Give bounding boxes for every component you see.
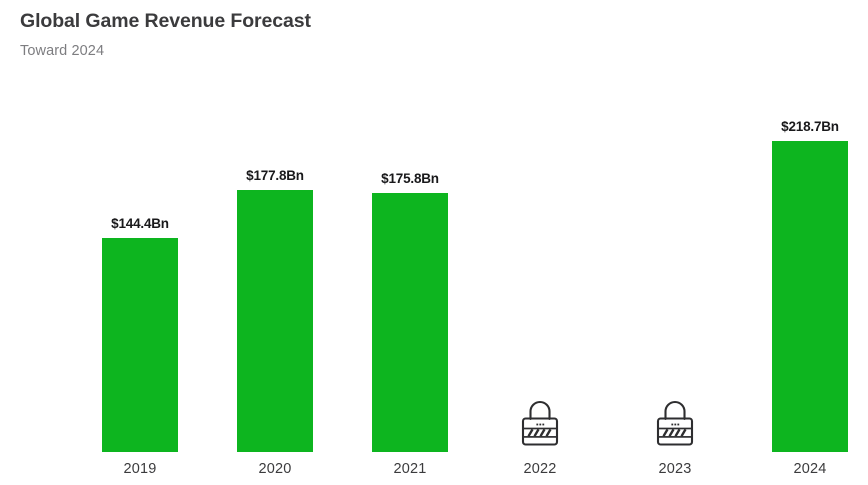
padlock-icon — [517, 397, 563, 451]
chart-subtitle: Toward 2024 — [20, 40, 720, 62]
bar-slot-2021[interactable]: $175.8Bn — [356, 119, 464, 452]
padlock-icon — [652, 397, 698, 451]
bar-value-label-2024: $218.7Bn — [781, 119, 839, 135]
bar-slot-2020[interactable]: $177.8Bn — [221, 119, 329, 452]
bar-value-label-2021: $175.8Bn — [381, 171, 439, 187]
bar-stack-2020: $177.8Bn — [221, 119, 329, 452]
bar-rect-2019[interactable] — [102, 238, 178, 452]
bar-value-label-2020: $177.8Bn — [246, 168, 304, 184]
chart-title: Global Game Revenue Forecast — [20, 8, 720, 34]
axis-label-2023: 2023 — [621, 459, 729, 479]
bar-rect-2021[interactable] — [372, 193, 448, 452]
bar-slot-2022[interactable] — [486, 119, 594, 452]
locked-placeholder-2023[interactable] — [621, 119, 729, 452]
bar-stack-2021: $175.8Bn — [356, 119, 464, 452]
bar-rect-2024[interactable] — [772, 141, 848, 452]
axis-label-2020: 2020 — [221, 459, 329, 479]
locked-placeholder-2022[interactable] — [486, 119, 594, 452]
plot-area: $144.4Bn 2019 $177.8Bn 2020 $175.8Bn 202… — [0, 86, 868, 485]
bar-slot-2023[interactable] — [621, 119, 729, 452]
bar-rect-2020[interactable] — [237, 190, 313, 452]
bar-slot-2019[interactable]: $144.4Bn — [86, 119, 194, 452]
axis-label-2024: 2024 — [756, 459, 864, 479]
bar-stack-2019: $144.4Bn — [86, 119, 194, 452]
axis-label-2021: 2021 — [356, 459, 464, 479]
bar-slot-2024[interactable]: $218.7Bn — [756, 119, 864, 452]
revenue-bar-chart: Global Game Revenue Forecast Toward 2024… — [0, 0, 868, 485]
axis-label-2019: 2019 — [86, 459, 194, 479]
bar-value-label-2019: $144.4Bn — [111, 216, 169, 232]
chart-header: Global Game Revenue Forecast Toward 2024 — [20, 8, 720, 62]
axis-label-2022: 2022 — [486, 459, 594, 479]
bar-stack-2024: $218.7Bn — [756, 119, 864, 452]
